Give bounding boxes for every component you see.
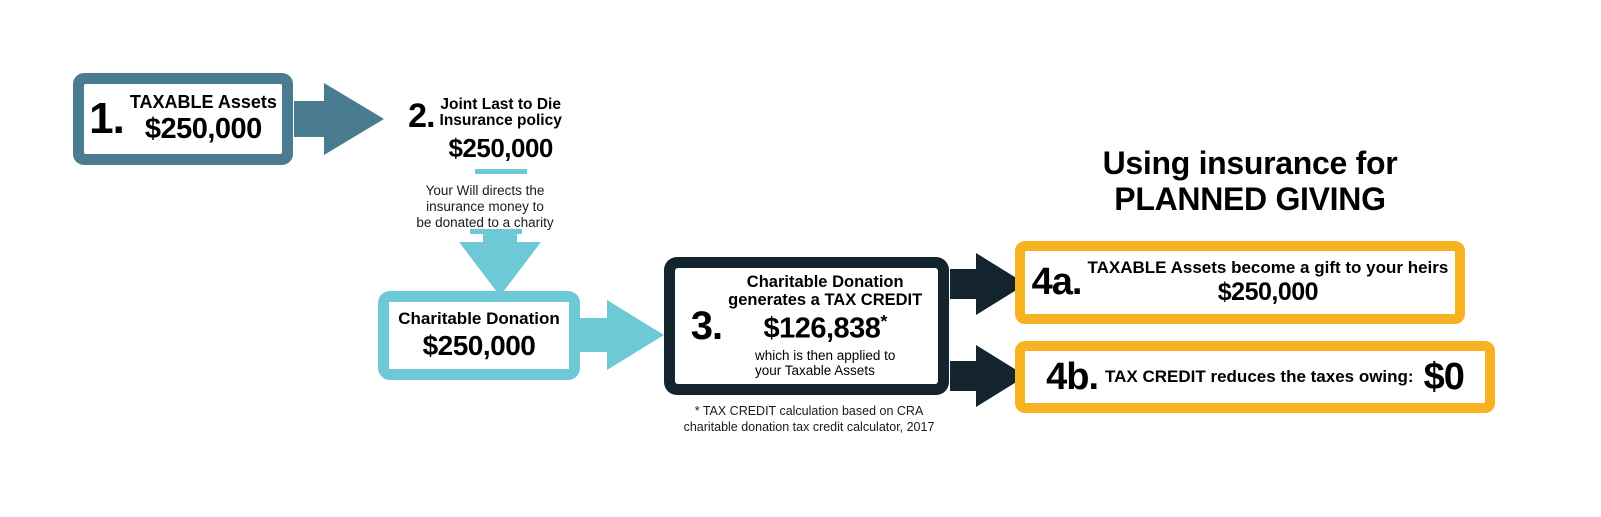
footnote: * TAX CREDIT calculation based on CRA ch… [664, 404, 954, 435]
step-2-note-line2: insurance money to [385, 199, 585, 215]
charitable-donation-box: Charitable Donation $250,000 [378, 291, 580, 380]
step-4a-box: 4a. TAXABLE Assets become a gift to your… [1015, 241, 1465, 324]
step-3-note-line1: which is then applied to [755, 348, 895, 364]
step-2-note-line1: Your Will directs the [385, 183, 585, 199]
step-2-number: 2. [408, 100, 434, 132]
step-3-amount-superscript: * [880, 311, 887, 331]
step-3-box: 3. Charitable Donation generates a TAX C… [664, 257, 949, 395]
arrow-right-icon [578, 293, 664, 377]
donation-label: Charitable Donation [398, 310, 560, 328]
step-2-label-line2: Insurance policy [440, 113, 562, 130]
step-2-amount: $250,000 [448, 134, 552, 162]
page-title-line1: Using insurance for [1030, 146, 1470, 182]
step-3-amount: $126,838* [763, 312, 886, 345]
donation-amount: $250,000 [423, 331, 536, 361]
step-1-amount: $250,000 [145, 114, 262, 145]
footnote-line1: * TAX CREDIT calculation based on CRA [664, 404, 954, 420]
footnote-line2: charitable donation tax credit calculato… [664, 420, 954, 436]
step-2-group: 2. Joint Last to Die Insurance policy $2… [385, 96, 585, 179]
step-1-box: 1. TAXABLE Assets $250,000 [73, 73, 293, 165]
step-4b-box: 4b. TAX CREDIT reduces the taxes owing: … [1015, 341, 1495, 413]
step-3-number: 3. [691, 308, 722, 344]
step-1-number: 1. [89, 99, 124, 139]
step-3-label-line1: Charitable Donation [747, 273, 904, 291]
page-title-line2: PLANNED GIVING [1030, 182, 1470, 218]
step-4b-amount: $0 [1424, 356, 1464, 399]
step-4a-number: 4a. [1032, 265, 1082, 299]
infographic-canvas: 1. TAXABLE Assets $250,000 2. Joint Last… [0, 0, 1601, 517]
step-3-label-line2: generates a TAX CREDIT [728, 292, 922, 310]
arrow-down-icon [459, 234, 541, 296]
page-title: Using insurance for PLANNED GIVING [1030, 146, 1470, 218]
step-3-amount-value: $126,838 [763, 312, 880, 344]
step-4b-label: TAX CREDIT reduces the taxes owing: [1105, 367, 1414, 387]
step-2-label-line1: Joint Last to Die [440, 96, 561, 113]
step-3-note: which is then applied to your Taxable As… [755, 348, 895, 379]
step-4a-label: TAXABLE Assets become a gift to your hei… [1087, 259, 1448, 277]
step-1-label: TAXABLE Assets [130, 93, 277, 112]
step-4a-amount: $250,000 [1218, 279, 1318, 306]
step-4b-number: 4b. [1046, 360, 1098, 394]
arrow-right-icon [294, 75, 384, 163]
step-2-divider-top [475, 169, 527, 174]
step-3-note-line2: your Taxable Assets [755, 363, 895, 379]
step-2-note: Your Will directs the insurance money to… [385, 183, 585, 231]
